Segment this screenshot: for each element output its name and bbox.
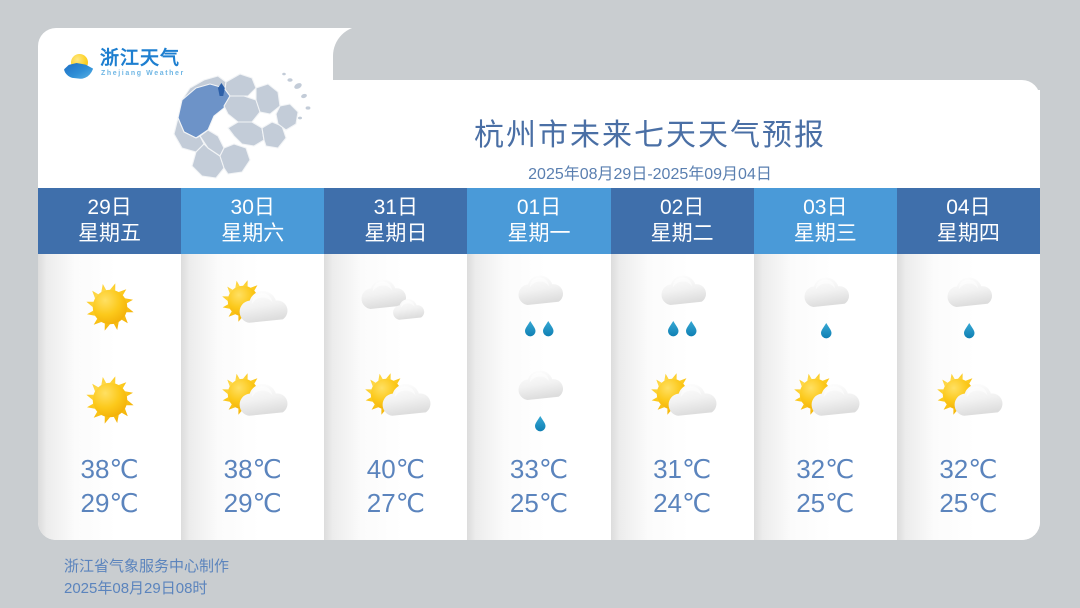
forecast-column-header: 31日 星期日 bbox=[324, 188, 467, 254]
nighttime-weather-icon-slot bbox=[754, 353, 897, 446]
forecast-day-label: 29日 bbox=[87, 195, 131, 221]
card-notch-shape bbox=[325, 28, 365, 82]
nighttime-weather-icon-slot bbox=[181, 353, 324, 446]
forecast-weekday-label: 星期一 bbox=[507, 221, 570, 247]
weather-forecast-page: 浙江天气 Zhejiang Weather bbox=[0, 0, 1080, 608]
light-rain-icon bbox=[924, 269, 1012, 345]
nighttime-weather-icon-slot bbox=[611, 353, 754, 446]
forecast-grid: 29日 星期五 bbox=[38, 188, 1040, 540]
low-temperature: 27℃ bbox=[367, 486, 425, 520]
temperature-group: 40℃ 27℃ bbox=[367, 452, 425, 520]
high-temperature: 40℃ bbox=[367, 452, 425, 486]
temperature-group: 33℃ 25℃ bbox=[510, 452, 568, 520]
nighttime-weather-icon-slot bbox=[467, 353, 610, 446]
footer: 浙江省气象服务中心制作 2025年08月29日08时 bbox=[64, 556, 229, 600]
low-temperature: 29℃ bbox=[81, 486, 139, 520]
forecast-day-label: 04日 bbox=[946, 195, 990, 221]
temperature-group: 32℃ 25℃ bbox=[939, 452, 997, 520]
high-temperature: 32℃ bbox=[796, 452, 854, 486]
nighttime-weather-icon-slot bbox=[324, 353, 467, 446]
cloudy-icon bbox=[352, 269, 440, 345]
forecast-column-header: 29日 星期五 bbox=[38, 188, 181, 254]
forecast-column-header: 30日 星期六 bbox=[181, 188, 324, 254]
forecast-column-body: 31℃ 24℃ bbox=[611, 254, 754, 540]
forecast-day-label: 31日 bbox=[374, 195, 418, 221]
forecast-column-header: 03日 星期三 bbox=[754, 188, 897, 254]
sunny-cloudy-icon bbox=[209, 362, 297, 438]
forecast-column-body: 32℃ 25℃ bbox=[897, 254, 1040, 540]
forecast-column-body: 33℃ 25℃ bbox=[467, 254, 610, 540]
forecast-day-label: 02日 bbox=[660, 195, 704, 221]
forecast-weekday-label: 星期二 bbox=[651, 221, 714, 247]
date-range-label: 2025年08月29日-2025年09月04日 bbox=[440, 160, 860, 184]
forecast-column[interactable]: 04日 星期四 bbox=[897, 188, 1040, 540]
low-temperature: 25℃ bbox=[510, 486, 568, 520]
moderate-rain-icon bbox=[638, 269, 726, 345]
forecast-column[interactable]: 03日 星期三 bbox=[754, 188, 897, 540]
forecast-column[interactable]: 02日 星期二 bbox=[611, 188, 754, 540]
forecast-weekday-label: 星期三 bbox=[794, 221, 857, 247]
daytime-weather-icon-slot bbox=[324, 260, 467, 353]
light-rain-icon bbox=[781, 269, 869, 345]
forecast-column-body: 38℃ 29℃ bbox=[38, 254, 181, 540]
sun-wave-logo-icon bbox=[64, 54, 94, 80]
sunny-cloudy-icon bbox=[781, 362, 869, 438]
forecast-column-body: 40℃ 27℃ bbox=[324, 254, 467, 540]
temperature-group: 38℃ 29℃ bbox=[224, 452, 282, 520]
daytime-weather-icon-slot bbox=[754, 260, 897, 353]
forecast-column[interactable]: 01日 星期一 bbox=[467, 188, 610, 540]
low-temperature: 25℃ bbox=[939, 486, 997, 520]
low-temperature: 25℃ bbox=[796, 486, 854, 520]
nighttime-weather-icon-slot bbox=[897, 353, 1040, 446]
forecast-column-body: 38℃ 29℃ bbox=[181, 254, 324, 540]
forecast-column[interactable]: 30日 星期六 bbox=[181, 188, 324, 540]
high-temperature: 38℃ bbox=[224, 452, 282, 486]
forecast-weekday-label: 星期四 bbox=[937, 221, 1000, 247]
forecast-column-header: 02日 星期二 bbox=[611, 188, 754, 254]
temperature-group: 38℃ 29℃ bbox=[81, 452, 139, 520]
sunny-cloudy-icon bbox=[209, 269, 297, 345]
moderate-rain-icon bbox=[495, 269, 583, 345]
sunny-icon bbox=[66, 269, 154, 345]
high-temperature: 38℃ bbox=[81, 452, 139, 486]
forecast-column[interactable]: 29日 星期五 bbox=[38, 188, 181, 540]
zhejiang-province-map-icon bbox=[152, 52, 327, 184]
high-temperature: 32℃ bbox=[939, 452, 997, 486]
forecast-column-header: 01日 星期一 bbox=[467, 188, 610, 254]
forecast-weekday-label: 星期六 bbox=[221, 221, 284, 247]
daytime-weather-icon-slot bbox=[38, 260, 181, 353]
daytime-weather-icon-slot bbox=[181, 260, 324, 353]
forecast-day-label: 03日 bbox=[803, 195, 847, 221]
forecast-day-label: 30日 bbox=[231, 195, 275, 221]
forecast-column[interactable]: 31日 星期日 bbox=[324, 188, 467, 540]
temperature-group: 31℃ 24℃ bbox=[653, 452, 711, 520]
low-temperature: 24℃ bbox=[653, 486, 711, 520]
forecast-weekday-label: 星期日 bbox=[364, 221, 427, 247]
forecast-column-header: 04日 星期四 bbox=[897, 188, 1040, 254]
footer-timestamp: 2025年08月29日08时 bbox=[64, 578, 229, 600]
sunny-icon bbox=[66, 362, 154, 438]
low-temperature: 29℃ bbox=[224, 486, 282, 520]
light-rain-icon bbox=[495, 362, 583, 438]
sunny-cloudy-icon bbox=[638, 362, 726, 438]
temperature-group: 32℃ 25℃ bbox=[796, 452, 854, 520]
forecast-column-body: 32℃ 25℃ bbox=[754, 254, 897, 540]
high-temperature: 33℃ bbox=[510, 452, 568, 486]
daytime-weather-icon-slot bbox=[897, 260, 1040, 353]
forecast-day-label: 01日 bbox=[517, 195, 561, 221]
page-title: 杭州市未来七天天气预报 bbox=[440, 110, 860, 154]
high-temperature: 31℃ bbox=[653, 452, 711, 486]
nighttime-weather-icon-slot bbox=[38, 353, 181, 446]
sunny-cloudy-icon bbox=[924, 362, 1012, 438]
footer-producer: 浙江省气象服务中心制作 bbox=[64, 556, 229, 578]
daytime-weather-icon-slot bbox=[611, 260, 754, 353]
forecast-weekday-label: 星期五 bbox=[78, 221, 141, 247]
daytime-weather-icon-slot bbox=[467, 260, 610, 353]
logo-wave-icon bbox=[64, 63, 94, 79]
sunny-cloudy-icon bbox=[352, 362, 440, 438]
